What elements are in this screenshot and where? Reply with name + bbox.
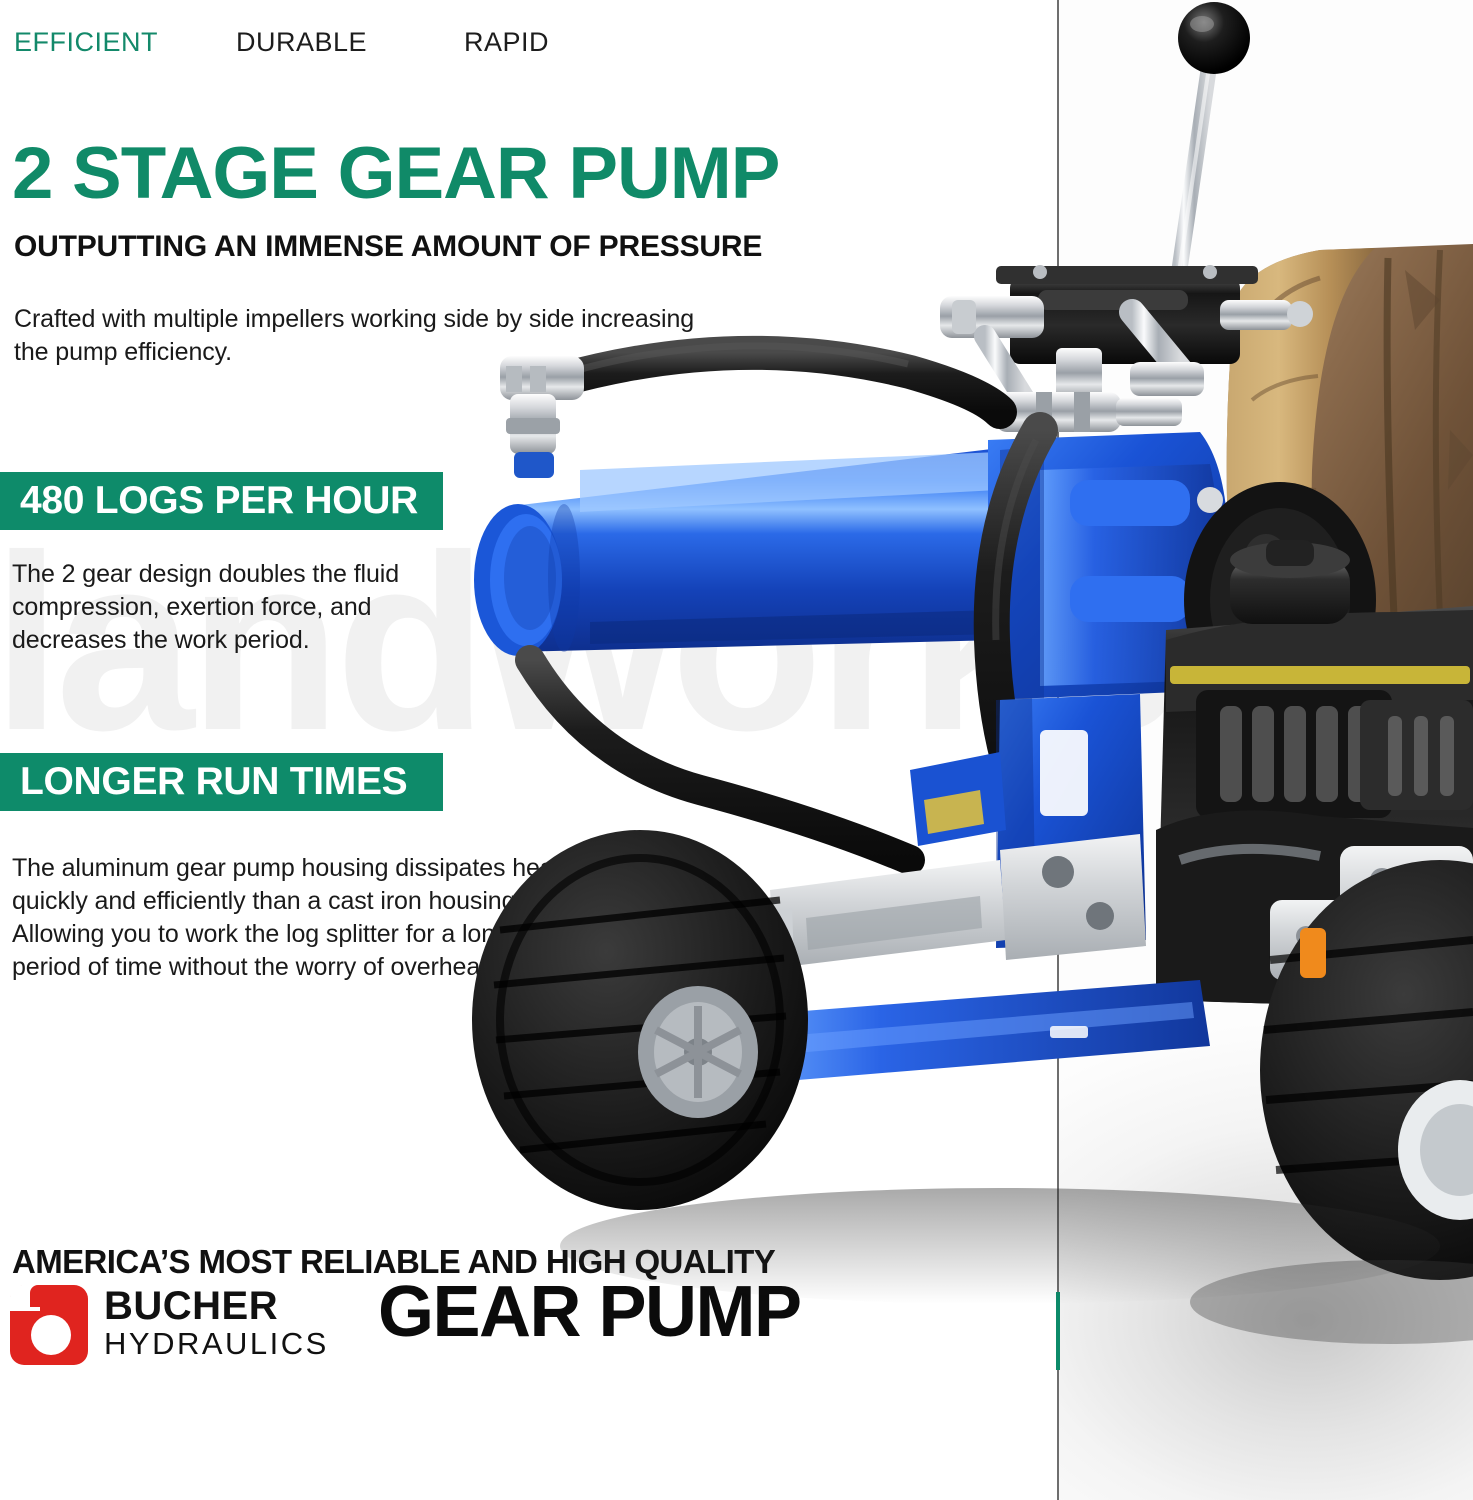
divider-accent-mark	[1056, 1292, 1060, 1370]
bucher-hydraulics-logo: BUCHER HYDRAULICS	[6, 1278, 329, 1368]
bucher-b-mark-icon	[6, 1279, 92, 1367]
feature-badge-logs-label: 480 LOGS PER HOUR	[20, 479, 418, 523]
bucher-wordmark: BUCHER HYDRAULICS	[104, 1285, 329, 1361]
bucher-brand-sub: HYDRAULICS	[104, 1327, 329, 1361]
infographic-page: landworks EFFICIENT DURABLE RAPID 2 STAG…	[0, 0, 1473, 1500]
page-title: 2 STAGE GEAR PUMP	[12, 138, 1052, 210]
feature-tag-durable: DURABLE	[236, 27, 367, 58]
feature-badge-longer-run-times: LONGER RUN TIMES	[0, 753, 443, 811]
feature-badge-run-label: LONGER RUN TIMES	[20, 760, 407, 804]
feature-body-longer-run-times: The aluminum gear pump housing dissipate…	[12, 852, 572, 984]
feature-badge-logs-per-hour: 480 LOGS PER HOUR	[0, 472, 443, 530]
feature-tag-rapid: RAPID	[464, 27, 549, 58]
page-subtitle: OUTPUTTING AN IMMENSE AMOUNT OF PRESSURE	[14, 230, 1034, 264]
vertical-divider	[1057, 0, 1059, 1500]
hose-elbow-fitting	[500, 356, 584, 478]
footer-product-name: GEAR PUMP	[378, 1272, 801, 1352]
bucher-brand-name: BUCHER	[104, 1285, 329, 1327]
intro-paragraph: Crafted with multiple impellers working …	[14, 303, 714, 369]
feature-body-logs-per-hour: The 2 gear design doubles the fluid comp…	[12, 558, 482, 657]
feature-tag-row: EFFICIENT DURABLE RAPID	[14, 27, 1014, 61]
feature-tag-efficient: EFFICIENT	[14, 27, 158, 58]
